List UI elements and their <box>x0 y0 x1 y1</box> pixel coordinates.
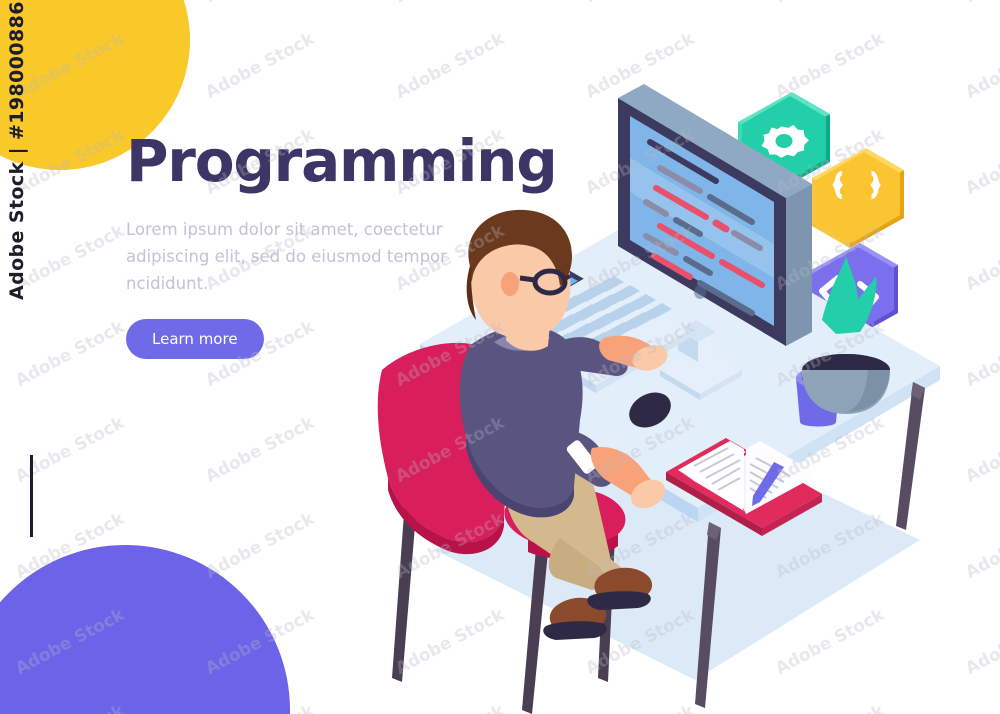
watermark-tile: Adobe Stock <box>962 0 1000 7</box>
watermark-tile: Adobe Stock <box>202 0 317 7</box>
purple-circle <box>0 545 290 714</box>
watermark-rule <box>30 455 33 537</box>
hero-copy-block: Programming Lorem ipsum dolor sit amet, … <box>126 131 546 359</box>
watermark-tile: Adobe Stock <box>772 0 887 7</box>
watermark-tile: Adobe Stock <box>12 317 127 391</box>
illustration-canvas: Programming Lorem ipsum dolor sit amet, … <box>0 0 1000 714</box>
watermark-tile: Adobe Stock <box>12 221 127 295</box>
learn-more-button[interactable]: Learn more <box>126 319 264 359</box>
watermark-tile: Adobe Stock <box>392 0 507 7</box>
desk-leg-right-front <box>896 382 925 530</box>
hero-paragraph: Lorem ipsum dolor sit amet, coectetur ad… <box>126 217 526 297</box>
watermark-tile: Adobe Stock <box>202 29 317 103</box>
watermark-label: Adobe Stock | #198000886 <box>6 0 28 300</box>
watermark-tile: Adobe Stock <box>202 413 317 487</box>
watermark-tile: Adobe Stock <box>582 0 697 7</box>
watermark-tile: Adobe Stock <box>202 509 317 583</box>
page-title: Programming <box>126 131 546 191</box>
